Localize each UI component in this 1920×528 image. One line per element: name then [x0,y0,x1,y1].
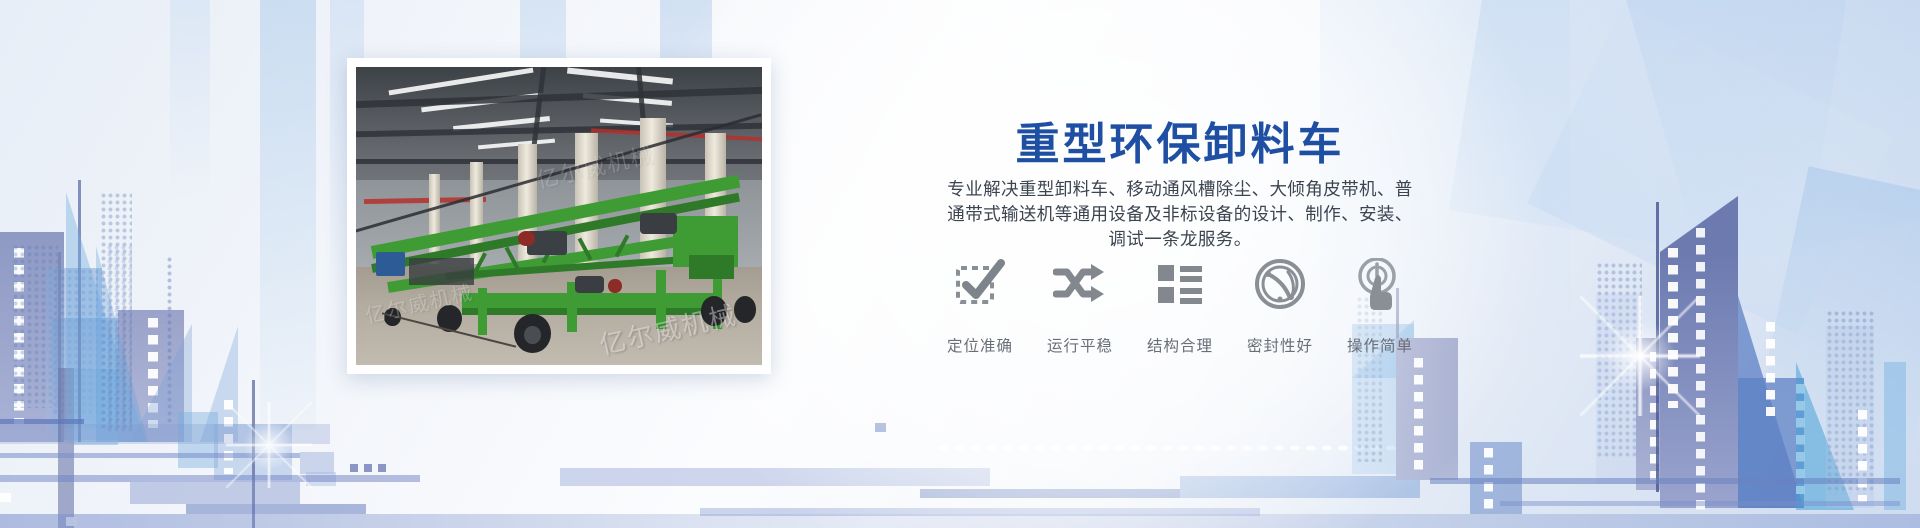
bg-dot-building [12,244,58,408]
bg-building [46,268,102,428]
description-line: 调试一条龙服务。 [820,228,1540,253]
bg-building [214,424,292,480]
feature-list: 定位准确 运行平稳 [816,256,1544,356]
bg-window-strip [1796,384,1805,494]
bg-window-strip [148,318,158,428]
bg-dot-building [1826,310,1874,494]
photo-leg [478,288,487,336]
bg-building [300,452,334,474]
bg-building [0,232,64,442]
feature-item-structure[interactable]: 结构合理 [1142,256,1218,356]
gauge-seal-icon [1242,256,1318,312]
bg-facet [1607,0,1920,279]
bg-window-strip [1696,228,1705,510]
bg-facet [66,192,146,442]
banner-content: 重型环保卸料车 专业解决重型卸料车、移动通风槽除尘、大倾角皮带机、普 通带式输送… [800,0,1560,528]
bg-building [1884,362,1906,510]
photo-truck [376,252,404,276]
bg-rule [186,504,366,514]
bg-building [1826,326,1874,508]
description-line: 专业解决重型卸料车、移动通风槽除尘、大倾角皮带机、普 [820,178,1540,203]
bg-dot-building [52,268,98,416]
bg-building [1640,340,1643,486]
photo-hopper-chute [689,255,734,279]
bg-dot-building [100,192,132,428]
bg-dash-row [0,493,122,502]
bg-window-strip [14,248,24,424]
touch-hand-icon [1342,256,1418,312]
bg-facet [1796,362,1854,510]
bg-building [58,368,74,528]
banner-description: 专业解决重型卸料车、移动通风槽除尘、大倾角皮带机、普 通带式输送机等通用设备及非… [820,178,1540,253]
bg-building [1738,378,1804,508]
bg-building [118,310,184,442]
feature-label: 密封性好 [1242,334,1318,356]
bg-building [306,472,336,486]
list-blocks-icon [1142,256,1218,312]
bg-building [252,380,255,528]
photo-motor-cap [518,231,534,246]
feature-item-smooth-operation[interactable]: 运行平稳 [1042,256,1118,356]
feature-item-sealing[interactable]: 密封性好 [1242,256,1318,356]
photo-drum [575,276,603,294]
bg-building [1636,338,1678,490]
page-title: 重型环保卸料车 [800,108,1560,172]
bg-sparkle [1580,296,1700,416]
bg-tower [78,180,81,442]
photo-wheel-hub [524,326,540,344]
feature-label: 定位准确 [942,334,1018,356]
bg-building [74,369,118,445]
bg-rule [0,419,84,424]
bg-building [178,412,218,468]
bg-square [364,464,372,472]
feature-label: 操作简单 [1342,334,1418,356]
bg-window-strip [1668,248,1678,408]
bg-window-strip [1650,352,1659,480]
feature-item-positioning[interactable]: 定位准确 [942,256,1018,356]
bg-rule [0,475,420,482]
bg-column [260,0,316,430]
checkbox-dashed-check-icon [942,256,1018,312]
bg-building [1660,252,1738,508]
bg-facet [1527,5,1893,334]
feature-label: 运行平稳 [1042,334,1118,356]
bg-facet [1755,166,1920,454]
bg-rule [0,424,330,444]
bg-facet [200,326,238,442]
bg-dot-building [106,244,132,434]
bg-column [170,0,210,200]
bg-facet [130,324,192,442]
bg-facet [1738,296,1804,508]
bg-sparkle [226,402,312,488]
bg-window-strip [1858,410,1867,502]
hero-banner: 亿尔威机械 亿尔威机械 亿尔威机械 重型环保卸料车 专业解决重型卸料车、移动通风… [0,0,1920,528]
bg-tower [1656,202,1659,492]
bg-dash-row [66,517,366,526]
bg-facet [1660,196,1738,252]
bg-building [52,318,124,440]
description-line: 通带式输送机等通用设备及非标设备的设计、制作、安装、 [820,203,1540,228]
bg-dot-column [166,256,173,424]
bg-window-strip [1766,322,1775,416]
bg-square [378,464,386,472]
bg-square [350,464,358,472]
bg-facet [96,246,148,442]
bg-tower [58,252,61,442]
bg-building [1596,294,1642,484]
bg-rule [130,482,300,504]
bg-rule [0,453,300,458]
feature-label: 结构合理 [1142,334,1218,356]
shuffle-arrows-icon [1042,256,1118,312]
feature-item-easy-operation[interactable]: 操作简单 [1342,256,1418,356]
bg-dot-building [1596,262,1642,458]
product-photo-card: 亿尔威机械 亿尔威机械 亿尔威机械 [347,58,771,374]
bg-window-strip [224,400,233,474]
bg-rule [1500,501,1900,506]
product-photo: 亿尔威机械 亿尔威机械 亿尔威机械 [356,67,762,365]
photo-drum [640,213,677,234]
photo-motor-cap [608,279,622,294]
